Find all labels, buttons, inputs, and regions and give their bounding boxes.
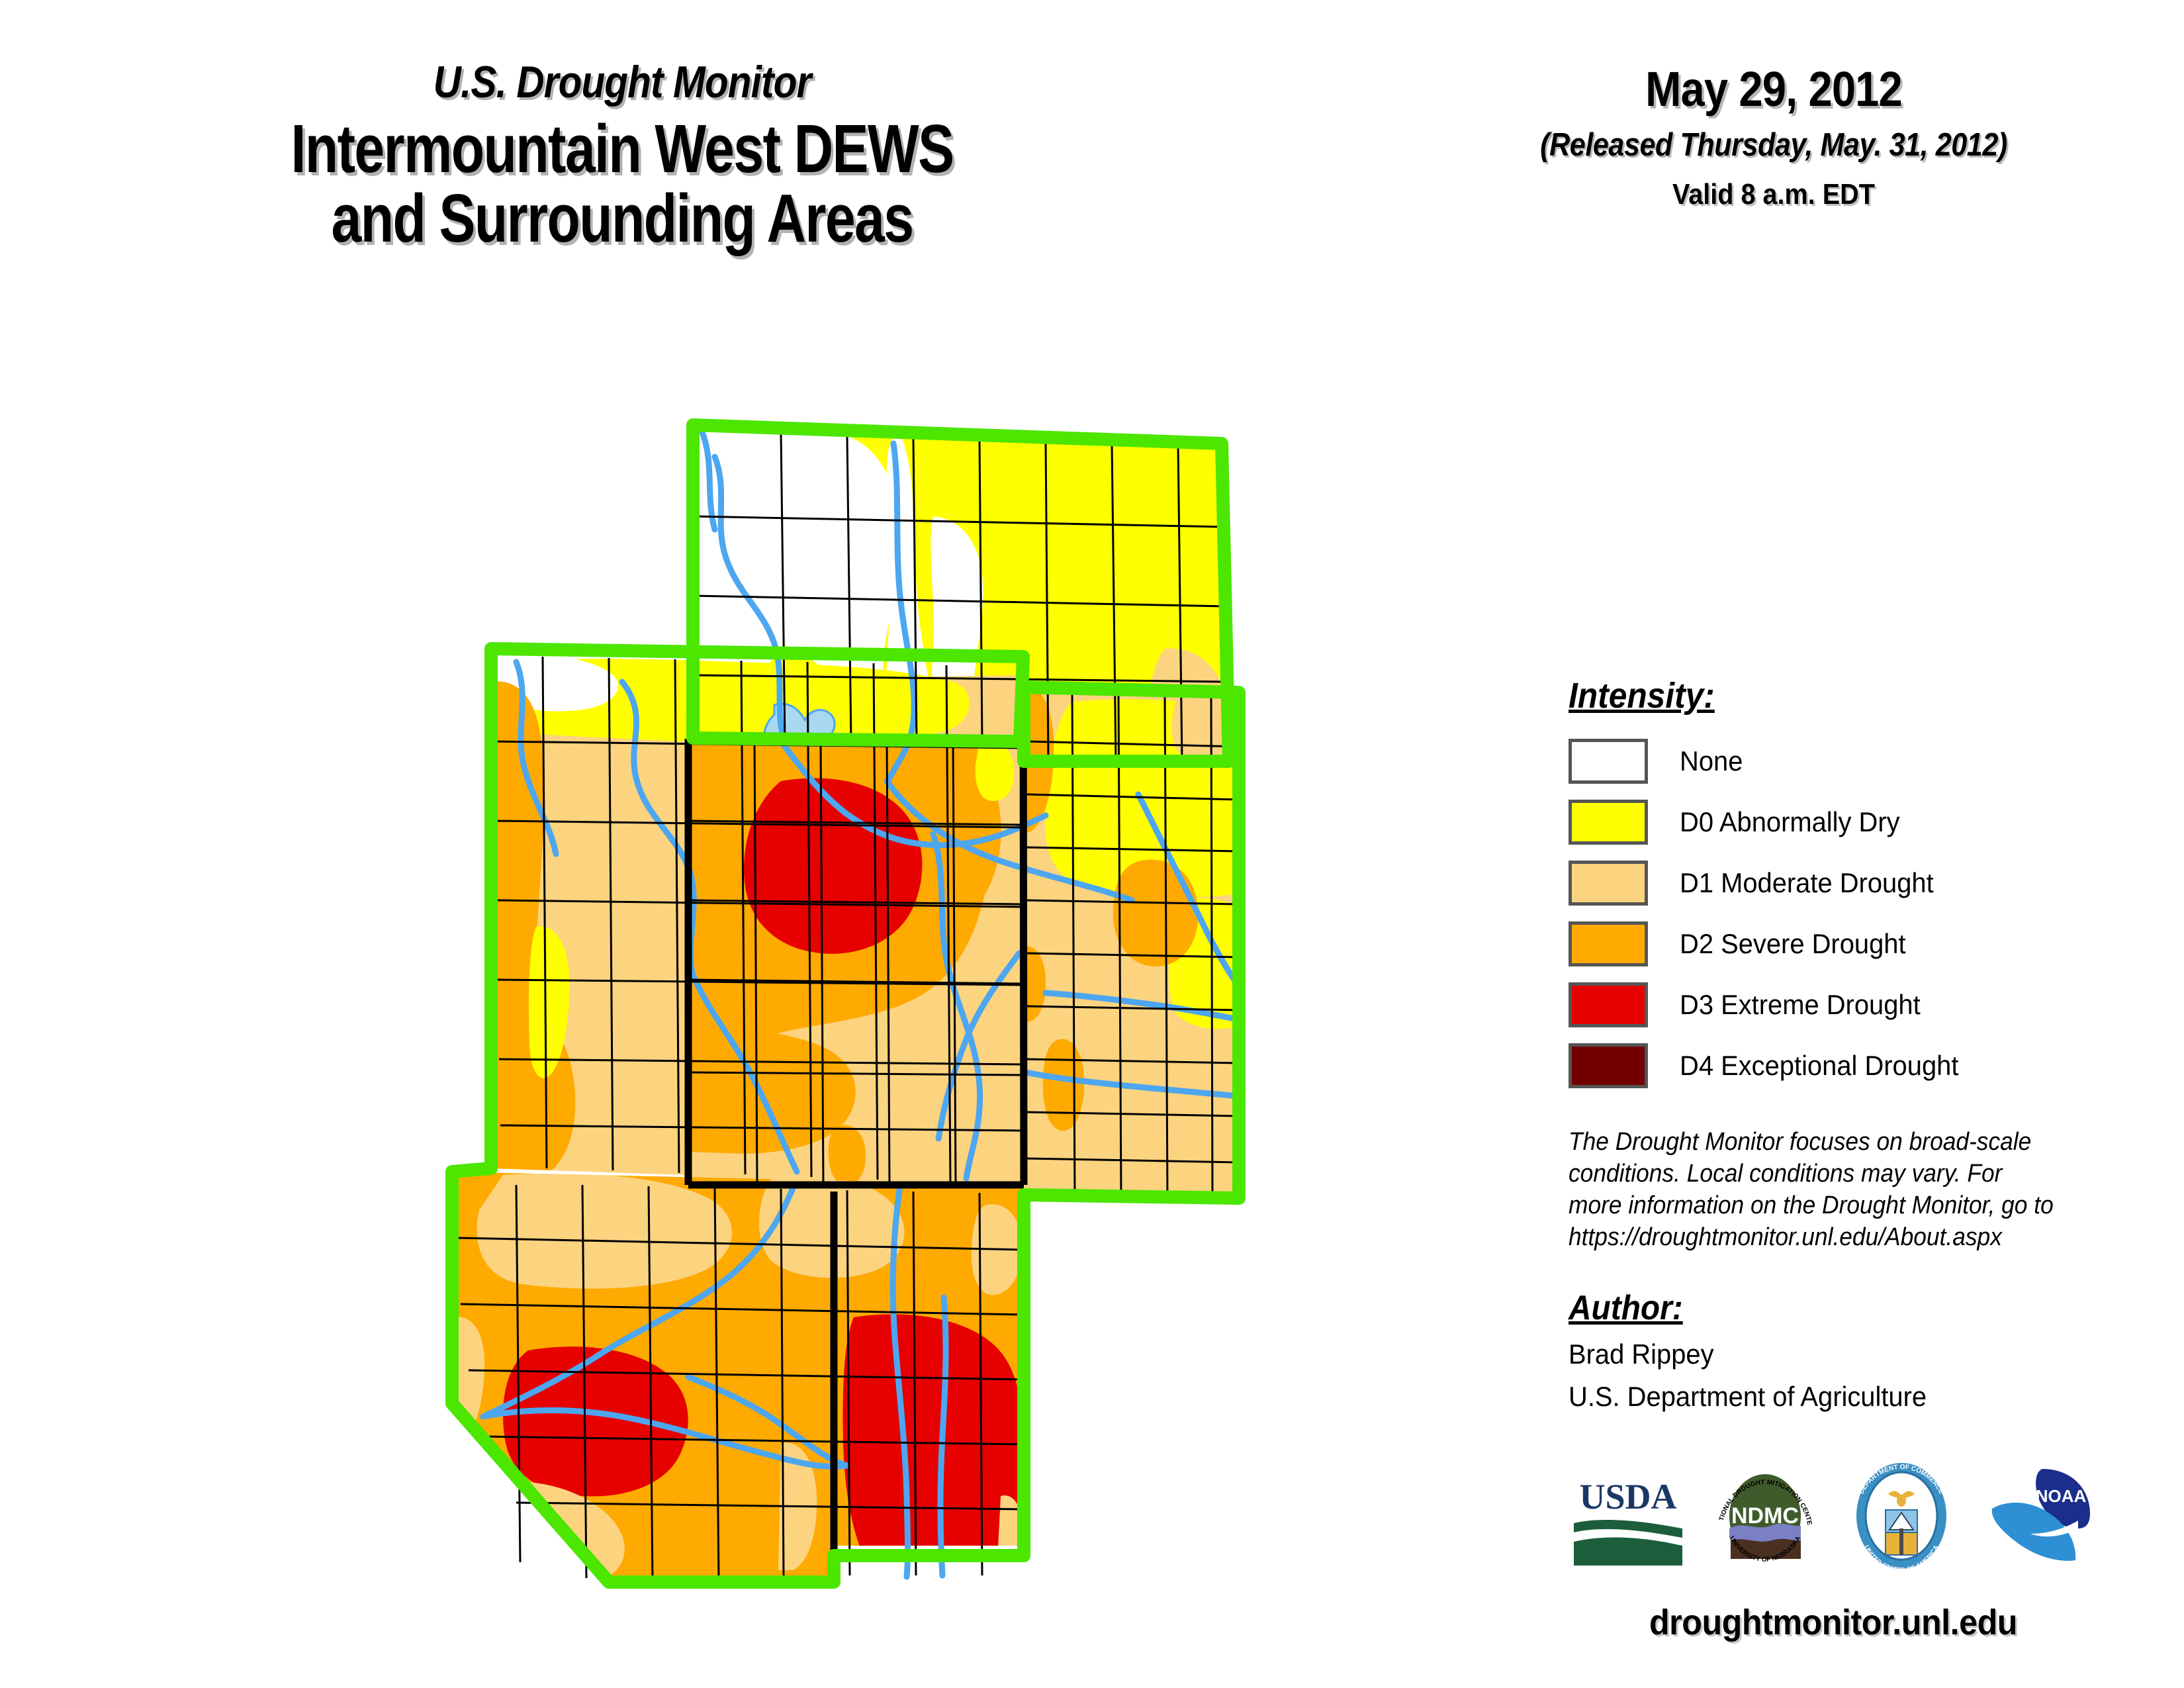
valid-date: May 29, 2012 (1482, 61, 2065, 117)
legend-row-d2[interactable]: D2 Severe Drought (1569, 914, 2098, 974)
legend-swatch-d2 (1569, 921, 1648, 966)
legend-label-d0: D0 Abnormally Dry (1680, 806, 1900, 838)
author-affiliation: U.S. Department of Agriculture (1569, 1381, 2071, 1413)
commerce-seal[interactable]: DEPARTMENT OF COMMERCE UNITED STATES OF … (1842, 1460, 1961, 1572)
legend-label-d2: D2 Severe Drought (1680, 928, 1906, 960)
noaa-logo[interactable]: NOAA (1979, 1460, 2098, 1572)
fill-d3-az-gila (503, 1346, 688, 1496)
legend-label-d4: D4 Exceptional Drought (1680, 1050, 1958, 1082)
page-title-line1: Intermountain West DEWS (124, 114, 1120, 183)
fill-d2-colorado-c-spot (1043, 1039, 1084, 1131)
legend-heading: Intensity: (1569, 675, 2056, 716)
title-block: U.S. Drought Monitor Intermountain West … (0, 0, 1363, 331)
legend-row-d0[interactable]: D0 Abnormally Dry (1569, 792, 2098, 853)
commerce-seal-svg: DEPARTMENT OF COMMERCE UNITED STATES OF … (1842, 1460, 1961, 1572)
legend-label-none: None (1680, 745, 1743, 777)
drought-monitor-page: U.S. Drought Monitor Intermountain West … (0, 0, 2184, 1688)
page-title-line2: and Surrounding Areas (124, 183, 1120, 253)
author-name: Brad Rippey (1569, 1338, 2071, 1370)
valid-time: Valid 8 a.m. EDT (1476, 178, 2071, 211)
legend-note: The Drought Monitor focuses on broad-sca… (1569, 1127, 2055, 1254)
page-title: Intermountain West DEWS and Surrounding … (124, 114, 1120, 253)
legend-swatch-d0 (1569, 800, 1648, 845)
legend-row-d1[interactable]: D1 Moderate Drought (1569, 853, 2098, 914)
legend-swatch-none (1569, 739, 1648, 784)
fill-d2-colorado-ne-spot (1113, 860, 1199, 966)
page-eyebrow: U.S. Drought Monitor (87, 56, 1158, 108)
noaa-logo-svg: NOAA (1979, 1460, 2098, 1572)
legend-row-none[interactable]: None (1569, 731, 2098, 792)
author-heading: Author: (1569, 1288, 2056, 1328)
legend-row-d4[interactable]: D4 Exceptional Drought (1569, 1035, 2098, 1096)
ndmc-logo-svg: NATIONAL DROUGHT MITIGATION CENTER UNIVE… (1706, 1460, 1825, 1572)
usda-logo-text: USDA (1579, 1477, 1676, 1517)
legend-label-d1: D1 Moderate Drought (1680, 867, 1934, 899)
ndmc-logo[interactable]: NATIONAL DROUGHT MITIGATION CENTER UNIVE… (1706, 1460, 1825, 1572)
legend-label-d3: D3 Extreme Drought (1680, 989, 1921, 1021)
legend-panel: Intensity: None D0 Abnormally Dry D1 Mod… (1569, 675, 2098, 1413)
legend-swatch-d3 (1569, 982, 1648, 1027)
date-block: May 29, 2012 (Released Thursday, May. 31… (1443, 0, 2105, 211)
ndmc-logo-text: NDMC (1731, 1503, 1799, 1528)
usda-logo-svg: USDA (1569, 1460, 1688, 1572)
map-canvas[interactable] (318, 371, 1350, 1595)
release-date: (Released Thursday, May. 31, 2012) (1482, 126, 2065, 164)
legend-swatch-d1 (1569, 861, 1648, 906)
legend-swatch-d4 (1569, 1043, 1648, 1088)
site-url[interactable]: droughtmonitor.unl.edu (1544, 1602, 2122, 1643)
logo-row: USDA NATIONAL DROUGHT MITIGATION CENTER (1569, 1456, 2098, 1575)
drought-map[interactable] (318, 371, 1350, 1595)
usda-logo[interactable]: USDA (1569, 1460, 1688, 1572)
noaa-logo-text: NOAA (2036, 1486, 2087, 1506)
region-wyoming-fills (688, 739, 1026, 1186)
legend-row-d3[interactable]: D3 Extreme Drought (1569, 974, 2098, 1035)
